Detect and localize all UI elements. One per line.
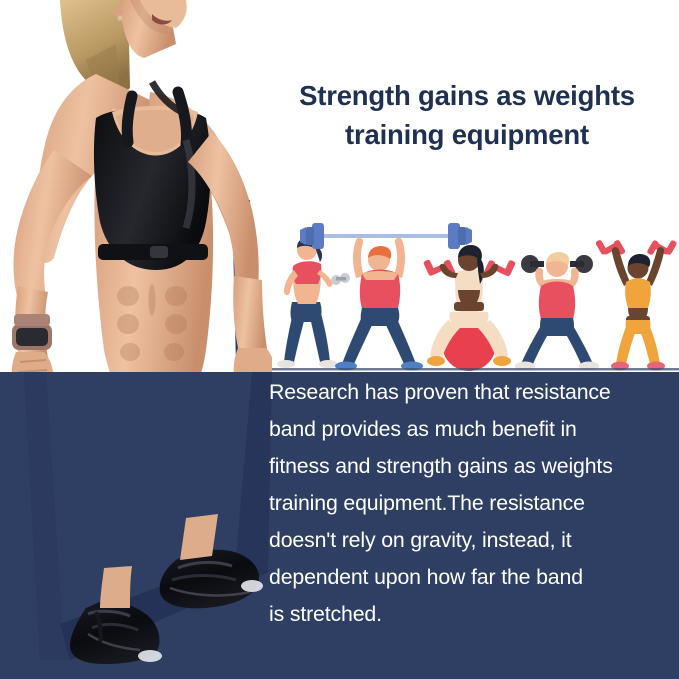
- page-title: Strength gains as weights training equip…: [262, 76, 672, 154]
- headline-line-2: training equipment: [262, 115, 672, 154]
- ground-line: [272, 368, 679, 371]
- infographic-canvas: Strength gains as weights training equip…: [0, 0, 679, 679]
- five-exercise-figures: [272, 216, 679, 372]
- body-line-5: doesn't rely on gravity, instead, it: [269, 522, 673, 559]
- body-line-4: training equipment.The resistance: [269, 485, 673, 522]
- body-paragraph: Research has proven that resistance band…: [269, 374, 673, 633]
- body-line-2: band provides as much benefit in: [269, 411, 673, 448]
- headline-line-1: Strength gains as weights: [299, 80, 635, 111]
- body-line-6: dependent upon how far the band: [269, 559, 673, 596]
- body-line-3: fitness and strength gains as weights: [269, 448, 673, 485]
- body-line-7: is stretched.: [269, 596, 673, 633]
- fitness-figures-illustration: [272, 216, 679, 372]
- shoes-and-band-overlay: [0, 372, 300, 679]
- body-line-1: Research has proven that resistance: [269, 374, 673, 411]
- right-sneaker: [160, 550, 263, 609]
